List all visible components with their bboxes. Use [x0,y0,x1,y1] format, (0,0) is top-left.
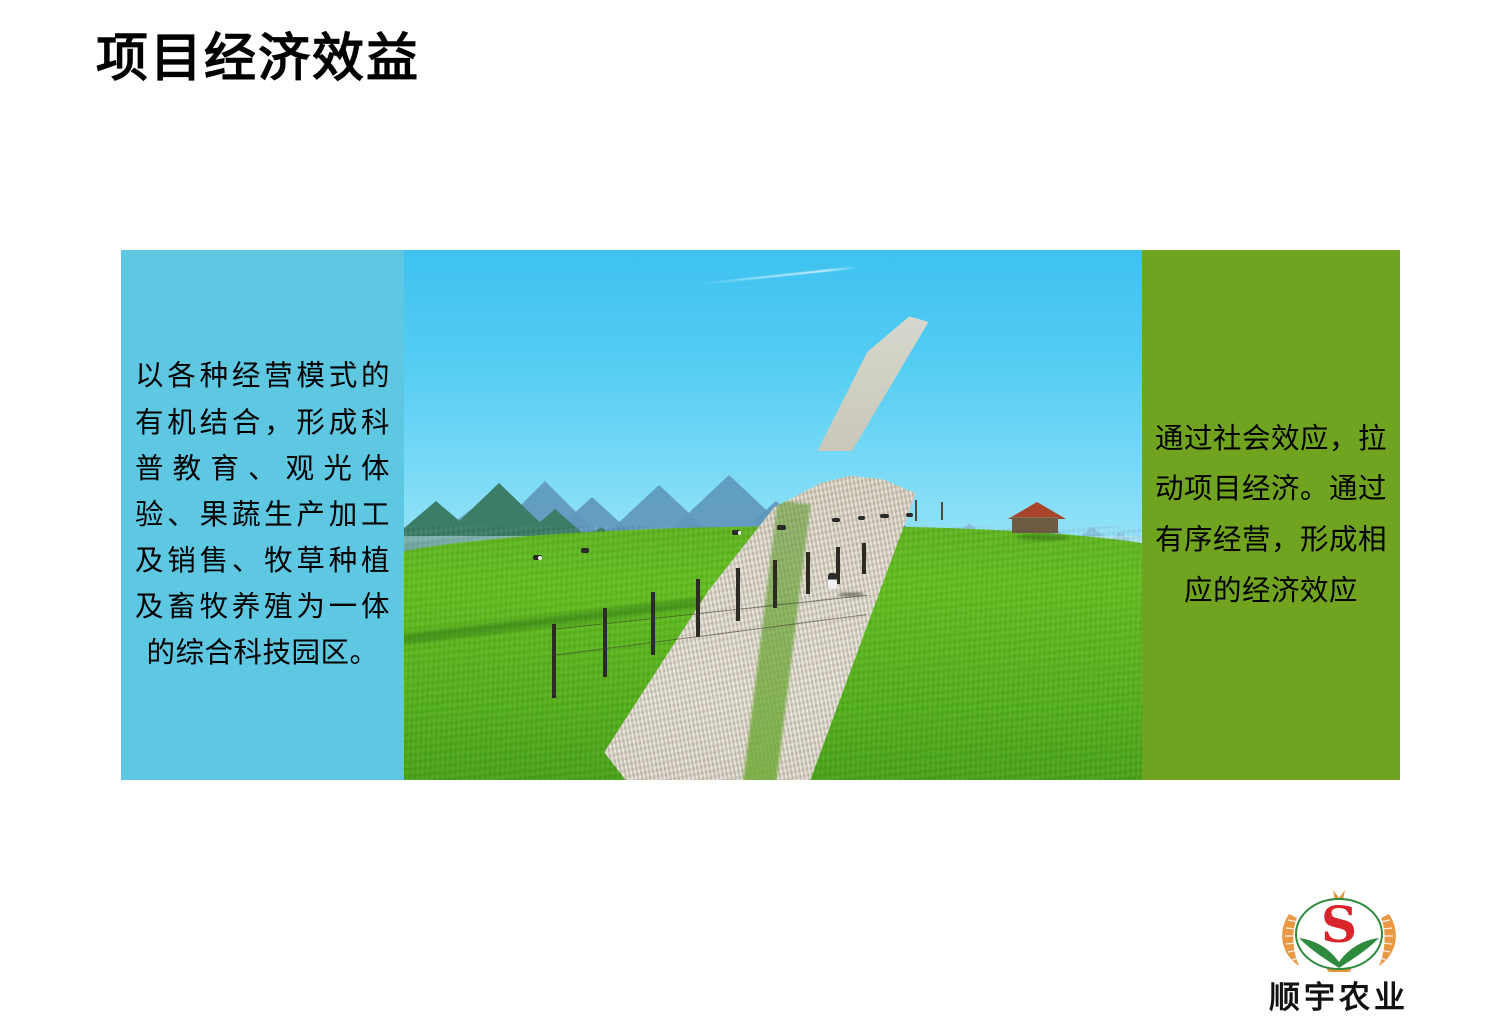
hut-body [1012,517,1058,533]
dog [828,573,837,589]
logo-wordmark: 顺宇农业 [1253,983,1425,1014]
left-panel-text: 以各种经营模式的有机结合，形成科普教育、观光体验、果蔬生产加工及销售、牧草种植及… [135,353,390,676]
company-logo: S 顺宇农业 [1253,888,1425,1014]
logo-emblem-icon: S [1271,888,1407,976]
cow [777,525,786,530]
cow [858,516,865,520]
cow [832,518,840,522]
cow [581,548,589,553]
page-title: 项目经济效益 [96,30,420,90]
cow [880,514,889,518]
left-text-panel: 以各种经营模式的有机结合，形成科普教育、观光体验、果蔬生产加工及销售、牧草种植及… [121,250,404,780]
wheat-emblem-icon: S [1271,888,1407,976]
right-panel-text: 通过社会效应，拉动项目经济。通过有序经营，形成相应的经济效应 [1154,414,1388,617]
content-band: 以各种经营模式的有机结合，形成科普教育、观光体验、果蔬生产加工及销售、牧草种植及… [121,250,1400,780]
utility-pole [941,502,943,520]
utility-pole [915,500,917,521]
logo-letter-s: S [1321,895,1357,954]
pasture-photo [404,250,1142,780]
right-text-panel: 通过社会效应，拉动项目经济。通过有序经营，形成相应的经济效应 [1142,250,1400,780]
cow [906,513,913,517]
